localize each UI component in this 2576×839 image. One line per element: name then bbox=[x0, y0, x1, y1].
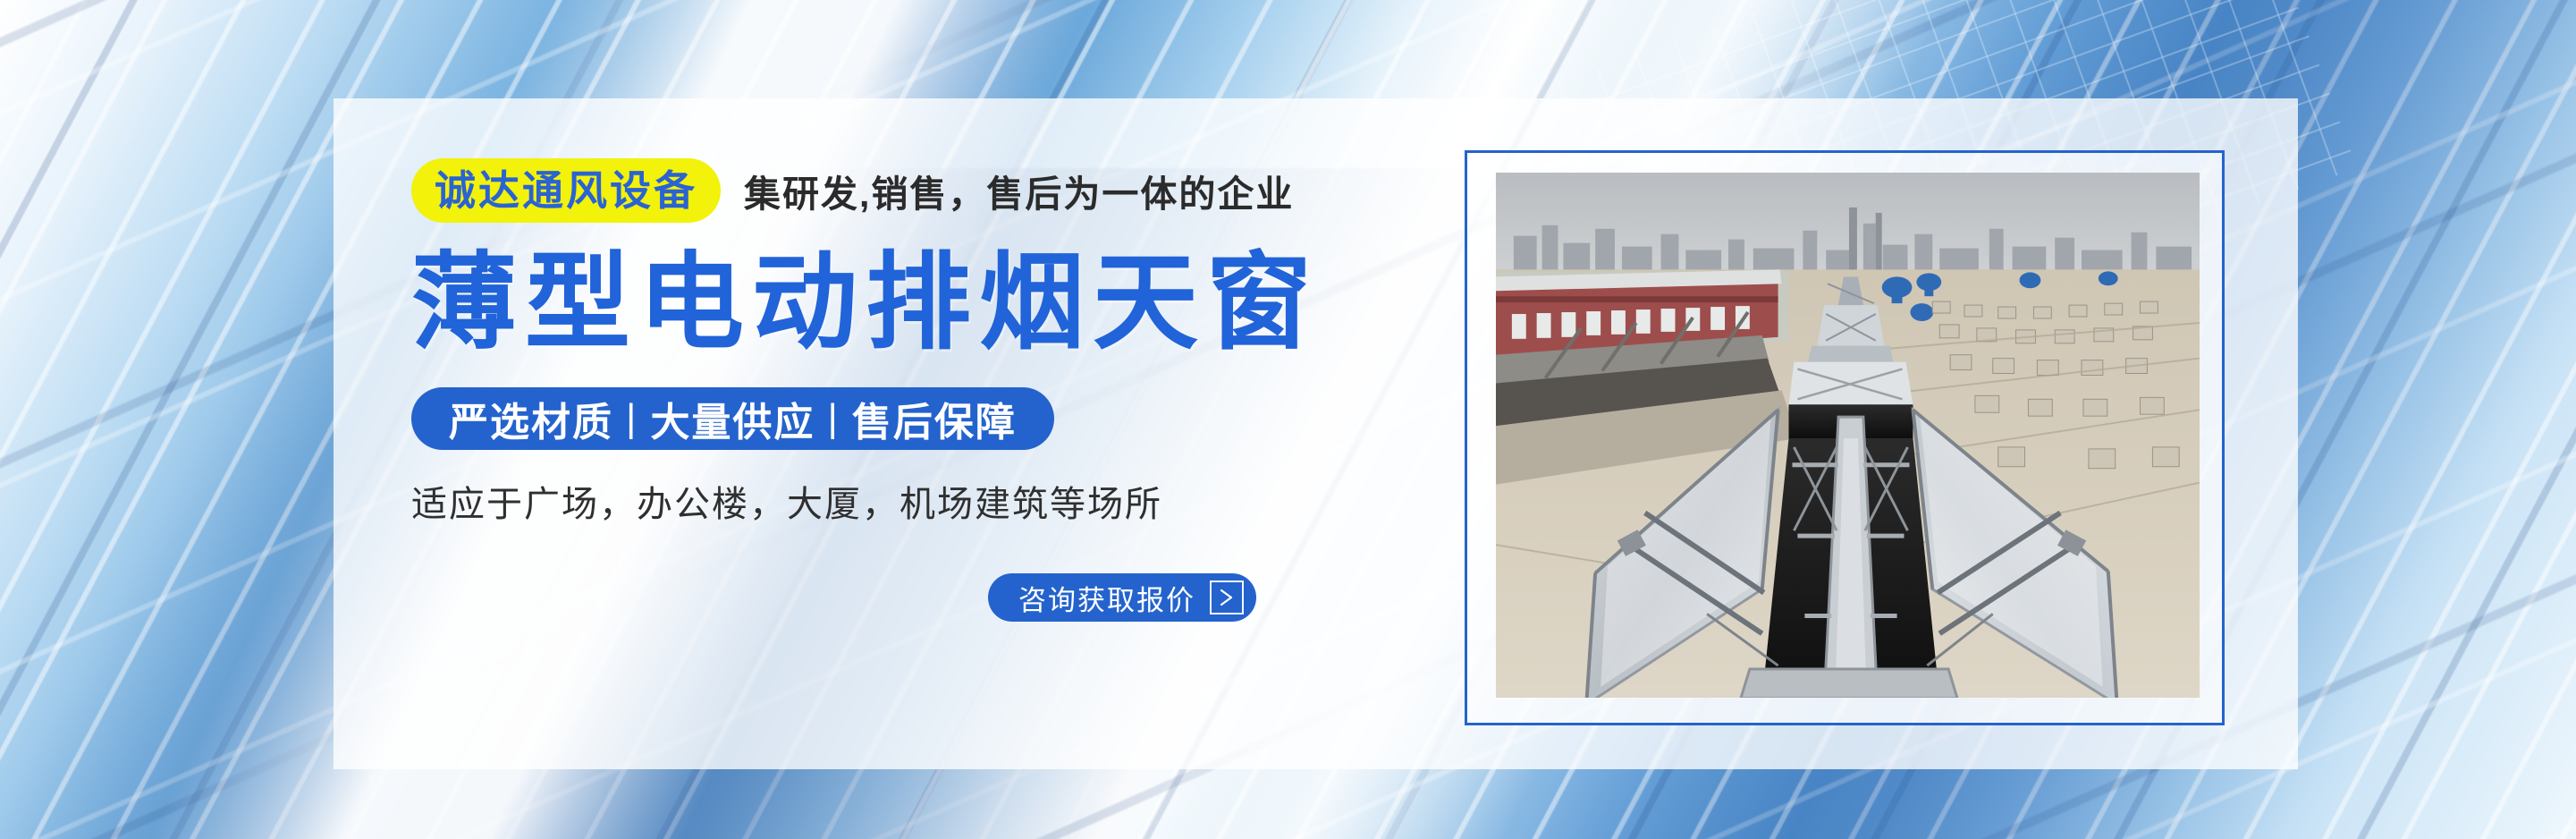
text-column: 诚达通风设备 集研发,销售，售后为一体的企业 薄型电动排烟天窗 严选材质 | 大… bbox=[411, 152, 1413, 622]
feature-item-1: 大量供应 bbox=[650, 390, 815, 447]
quote-inquiry-button[interactable]: 咨询获取报价 bbox=[988, 573, 1256, 622]
chevron-right-icon bbox=[1210, 581, 1244, 614]
product-photo-frame bbox=[1465, 150, 2225, 725]
product-photo bbox=[1496, 173, 2200, 698]
promo-banner: 诚达通风设备 集研发,销售，售后为一体的企业 薄型电动排烟天窗 严选材质 | 大… bbox=[0, 0, 2576, 839]
feature-bar: 严选材质 | 大量供应 | 售后保障 bbox=[411, 387, 1054, 450]
tagline-text: 集研发,销售，售后为一体的企业 bbox=[744, 164, 1294, 217]
page-title: 薄型电动排烟天窗 bbox=[411, 247, 1413, 360]
feature-item-2: 售后保障 bbox=[852, 390, 1017, 447]
brand-pill: 诚达通风设备 bbox=[411, 158, 721, 223]
feature-item-0: 严选材质 bbox=[449, 390, 613, 447]
tagline-row: 诚达通风设备 集研发,销售，售后为一体的企业 bbox=[411, 152, 1413, 229]
subdescription: 适应于广场，办公楼，大厦，机场建筑等场所 bbox=[411, 475, 1413, 527]
cta-row: 咨询获取报价 bbox=[411, 573, 1413, 622]
feature-separator-0: | bbox=[613, 396, 650, 441]
quote-inquiry-label: 咨询获取报价 bbox=[1018, 578, 1195, 618]
feature-separator-1: | bbox=[815, 396, 851, 441]
